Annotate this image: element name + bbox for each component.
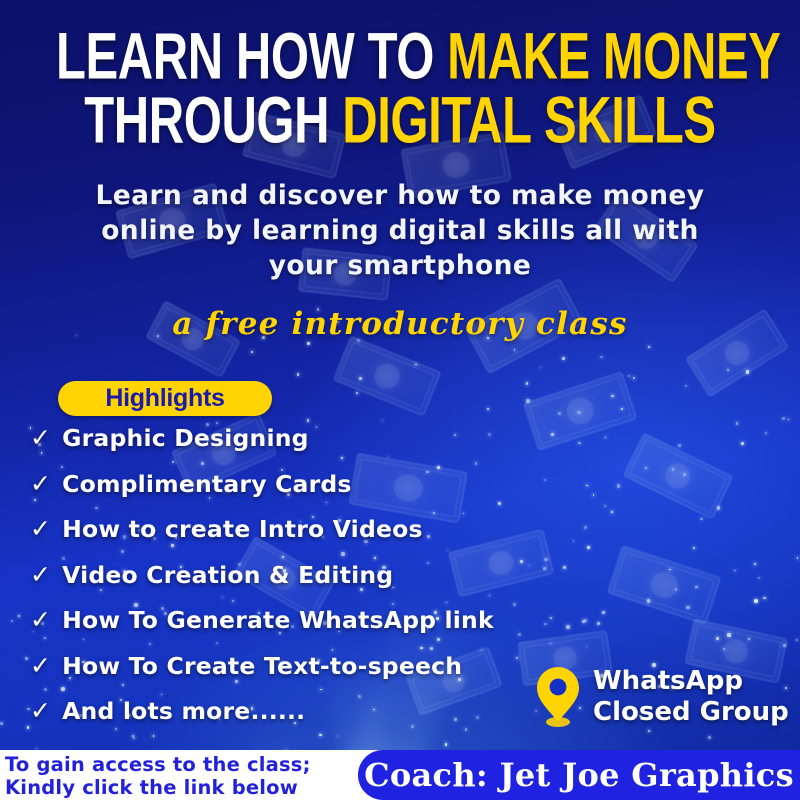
- star-dot: [604, 505, 606, 507]
- star-dot: [700, 518, 703, 521]
- star-dot: [36, 748, 37, 749]
- star-dot: [647, 599, 650, 602]
- location-pin-icon: [536, 666, 580, 728]
- tagline: a free introductory class: [0, 306, 800, 342]
- star-dot: [566, 625, 570, 629]
- star-dot: [695, 586, 698, 589]
- star-dot: [526, 382, 529, 385]
- highlight-item: ✓Video Creation & Editing: [30, 561, 500, 607]
- highlights-list: ✓Graphic Designing✓Complimentary Cards✓H…: [30, 424, 500, 743]
- star-dot: [628, 375, 630, 377]
- star-dot: [741, 442, 744, 445]
- banknote-graphic: [333, 335, 442, 416]
- star-dot: [605, 437, 606, 438]
- star-dot: [562, 357, 565, 360]
- star-dot: [727, 369, 729, 371]
- star-dot: [788, 419, 789, 420]
- star-dot: [544, 623, 546, 625]
- star-dot: [748, 638, 751, 641]
- subtitle: Learn and discover how to make money onl…: [92, 178, 708, 284]
- star-dot: [734, 570, 736, 572]
- check-icon: ✓: [30, 471, 51, 496]
- check-icon: ✓: [30, 562, 51, 587]
- headline-line-2: THROUGH DIGITAL SKILLS: [56, 89, 744, 152]
- star-dot: [487, 408, 489, 410]
- star-dot: [727, 633, 730, 636]
- highlight-item-label: How To Generate WhatsApp link: [62, 606, 494, 634]
- star-dot: [758, 577, 760, 579]
- footer-bar: To gain access to the class; Kindly clic…: [0, 750, 800, 800]
- check-icon: ✓: [30, 425, 51, 450]
- star-dot: [577, 411, 580, 414]
- highlights-label: Highlights: [105, 384, 224, 413]
- star-dot: [763, 597, 765, 599]
- star-dot: [518, 633, 521, 636]
- star-dot: [648, 346, 650, 348]
- star-dot: [520, 560, 523, 563]
- star-dot: [648, 730, 650, 732]
- star-dot: [544, 479, 546, 481]
- star-dot: [672, 468, 674, 470]
- banknote-graphic: [607, 545, 721, 625]
- star-dot: [543, 567, 546, 570]
- highlight-item: ✓Complimentary Cards: [30, 470, 500, 516]
- star-dot: [593, 494, 595, 496]
- star-dot: [765, 432, 767, 434]
- star-dot: [584, 619, 587, 622]
- star-dot: [251, 351, 253, 353]
- star-dot: [356, 392, 358, 394]
- star-dot: [693, 547, 695, 549]
- coach-panel: Coach: Jet Joe Graphics: [358, 750, 800, 800]
- star-dot: [584, 526, 587, 529]
- highlight-item: ✓How to create Intro Videos: [30, 515, 500, 561]
- star-dot: [526, 399, 530, 403]
- star-dot: [717, 506, 721, 510]
- star-dot: [516, 657, 518, 659]
- highlight-item-label: Graphic Designing: [62, 424, 309, 452]
- whatsapp-line-2: Closed Group: [593, 697, 789, 728]
- star-dot: [297, 373, 299, 375]
- star-dot: [514, 349, 515, 350]
- check-icon: ✓: [30, 516, 51, 541]
- headline-gold-2: DIGITAL SKILLS: [342, 83, 715, 157]
- star-dot: [754, 563, 756, 565]
- footer-cta-line-1: To gain access to the class;: [5, 753, 311, 776]
- highlight-item: ✓Graphic Designing: [30, 424, 500, 470]
- highlights-badge: Highlights: [58, 381, 272, 416]
- highlight-item-label: How to create Intro Videos: [62, 515, 422, 543]
- star-dot: [551, 433, 554, 436]
- star-dot: [675, 588, 678, 591]
- star-dot: [746, 370, 750, 374]
- star-dot: [563, 566, 566, 569]
- whatsapp-line-1: WhatsApp: [593, 666, 789, 697]
- highlight-item: ✓How To Generate WhatsApp link: [30, 606, 500, 652]
- star-dot: [611, 395, 614, 398]
- whatsapp-text: WhatsApp Closed Group: [593, 666, 789, 728]
- star-dot: [382, 420, 384, 422]
- star-dot: [25, 657, 28, 660]
- star-dot: [669, 569, 671, 571]
- check-icon: ✓: [30, 698, 51, 723]
- star-dot: [611, 511, 613, 513]
- banknote-graphic: [523, 371, 637, 451]
- whatsapp-group-block: WhatsApp Closed Group: [536, 666, 789, 728]
- highlight-item-label: How To Create Text-to-speech: [62, 652, 462, 680]
- star-dot: [0, 722, 3, 725]
- star-dot: [621, 408, 623, 410]
- star-dot: [754, 599, 758, 603]
- star-dot: [645, 467, 647, 469]
- check-icon: ✓: [30, 653, 51, 678]
- star-dot: [678, 444, 681, 447]
- star-dot: [445, 743, 448, 746]
- star-dot: [550, 643, 551, 644]
- star-dot: [18, 615, 20, 617]
- poster-canvas: LEARN HOW TO MAKE MONEY THROUGH DIGITAL …: [0, 0, 800, 800]
- star-dot: [797, 557, 799, 559]
- footer-cta-line-2: Kindly click the link below: [5, 776, 311, 799]
- banknote-graphic: [623, 433, 734, 520]
- star-dot: [573, 540, 575, 542]
- star-dot: [708, 736, 711, 739]
- star-dot: [415, 364, 416, 365]
- star-dot: [685, 385, 687, 387]
- star-dot: [586, 646, 588, 648]
- headline-line-1: LEARN HOW TO MAKE MONEY: [56, 25, 744, 88]
- star-dot: [633, 377, 635, 379]
- star-dot: [602, 611, 606, 615]
- star-dot: [540, 367, 541, 368]
- star-dot: [544, 558, 548, 562]
- star-dot: [359, 377, 362, 380]
- headline-white-2: THROUGH: [84, 83, 342, 157]
- check-icon: ✓: [30, 607, 51, 632]
- star-dot: [686, 606, 690, 610]
- star-dot: [736, 422, 738, 424]
- star-dot: [513, 603, 517, 607]
- star-dot: [307, 419, 310, 422]
- star-dot: [550, 617, 552, 619]
- highlight-item-label: And lots more......: [62, 697, 305, 725]
- headline: LEARN HOW TO MAKE MONEY THROUGH DIGITAL …: [56, 25, 744, 152]
- highlight-item-label: Video Creation & Editing: [62, 561, 393, 589]
- footer-cta: To gain access to the class; Kindly clic…: [5, 753, 311, 799]
- highlight-item: ✓How To Create Text-to-speech: [30, 652, 500, 698]
- star-dot: [597, 622, 601, 626]
- star-dot: [683, 473, 687, 477]
- star-dot: [782, 417, 785, 420]
- coach-name: Coach: Jet Joe Graphics: [364, 756, 794, 794]
- highlight-item: ✓And lots more......: [30, 697, 500, 743]
- star-dot: [587, 546, 590, 549]
- star-dot: [796, 639, 798, 641]
- highlight-item-label: Complimentary Cards: [62, 470, 351, 498]
- star-dot: [558, 412, 561, 415]
- star-dot: [529, 565, 530, 566]
- star-dot: [716, 637, 719, 640]
- star-dot: [307, 342, 311, 346]
- star-dot: [586, 485, 587, 486]
- star-dot: [600, 356, 602, 358]
- star-dot: [617, 484, 621, 488]
- star-dot: [582, 620, 585, 623]
- star-dot: [723, 648, 725, 650]
- star-dot: [578, 442, 580, 444]
- star-dot: [11, 620, 13, 622]
- star-dot: [783, 644, 786, 647]
